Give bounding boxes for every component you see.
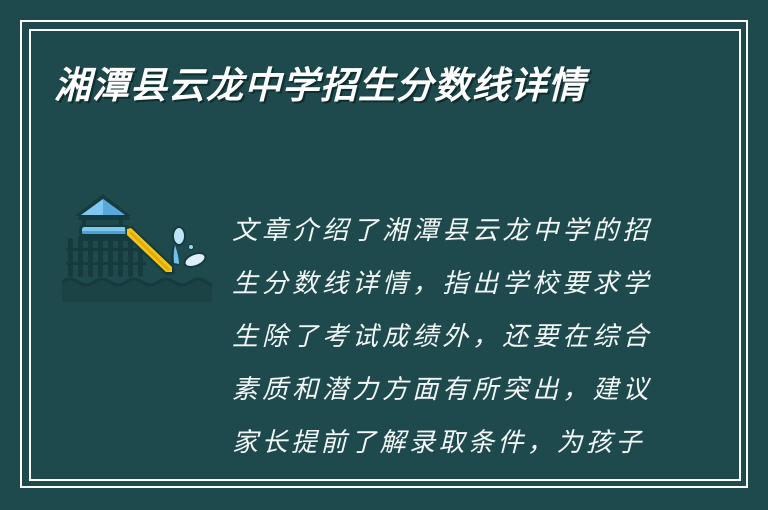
water-slide-playground-illustration [62,192,212,302]
article-summary-text: 文章介绍了湘潭县云龙中学的招生分数线详情，指出学校要求学生除了考试成绩外，还要在… [232,205,652,470]
platform-bar-icon [79,225,129,236]
poster-canvas: 湘潭县云龙中学招生分数线详情 [0,0,768,510]
water-splash-icon [171,226,209,271]
page-title: 湘潭县云龙中学招生分数线详情 [54,62,586,110]
water-wave-icon [62,279,212,302]
roof-triangle-icon [75,194,131,216]
illustration-svg [62,192,212,302]
